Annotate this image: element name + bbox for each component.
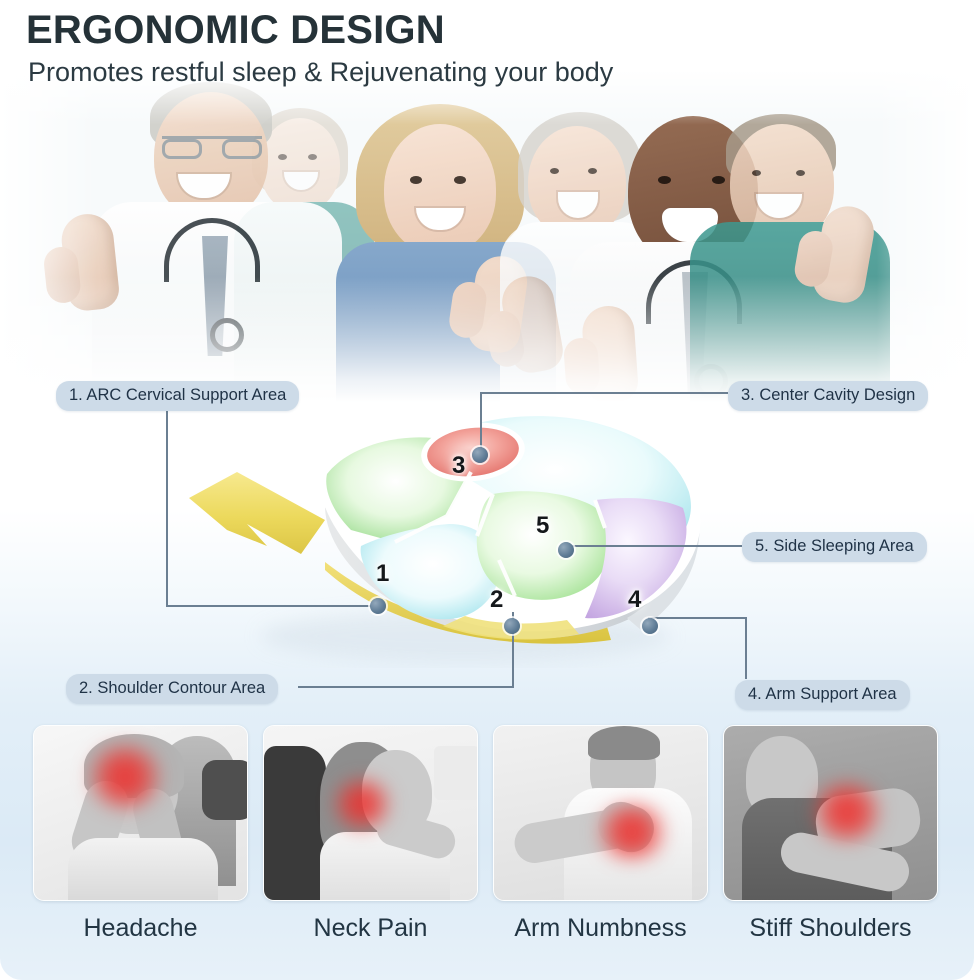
- neck-pain-glow: [330, 778, 394, 830]
- headache-pain-glow: [84, 744, 166, 810]
- marker-5-number: 5: [536, 512, 549, 540]
- callout-5-side-sleeping-area[interactable]: 5. Side Sleeping Area: [742, 532, 927, 562]
- page-subtitle: Promotes restful sleep & Rejuvenating yo…: [0, 51, 974, 88]
- marker-2-number: 2: [490, 586, 503, 614]
- leader-line-4-horizontal: [648, 617, 746, 619]
- pain-card-neck-pain-image: [263, 725, 478, 901]
- marker-3-dot: [472, 447, 488, 463]
- pain-card-arm-numbness[interactable]: Arm Numbness: [493, 725, 708, 943]
- pain-card-headache-image: [33, 725, 248, 901]
- leader-line-3-horizontal: [480, 392, 728, 394]
- pain-card-stiff-shoulders-image: [723, 725, 938, 901]
- pain-card-arm-numbness-label: Arm Numbness: [493, 915, 708, 943]
- stiff-shoulders-pain-glow: [808, 782, 886, 842]
- pain-card-headache[interactable]: Headache: [33, 725, 248, 943]
- marker-1-dot: [370, 598, 386, 614]
- pain-point-cards: Headache Neck Pain: [0, 725, 974, 980]
- marker-4-dot: [642, 618, 658, 634]
- infographic-root: ERGONOMIC DESIGN Promotes restful sleep …: [0, 0, 974, 980]
- leader-line-1-vertical: [166, 406, 168, 606]
- header: ERGONOMIC DESIGN Promotes restful sleep …: [0, 0, 974, 88]
- marker-5-dot: [558, 542, 574, 558]
- pain-card-stiff-shoulders[interactable]: Stiff Shoulders: [723, 725, 938, 943]
- pain-card-stiff-shoulders-label: Stiff Shoulders: [723, 915, 938, 943]
- glasses-icon: [162, 136, 262, 156]
- pillow-base-foam-left: [189, 472, 325, 554]
- marker-3-number: 3: [452, 452, 465, 480]
- leader-line-2-horizontal: [298, 686, 514, 688]
- callout-1-arc-cervical-support-area[interactable]: 1. ARC Cervical Support Area: [56, 381, 299, 411]
- arm-numbness-pain-glow: [592, 804, 672, 860]
- callout-2-shoulder-contour-area[interactable]: 2. Shoulder Contour Area: [66, 674, 278, 704]
- callout-4-arm-support-area[interactable]: 4. Arm Support Area: [735, 680, 910, 710]
- thumbs-up-icon: [59, 212, 121, 313]
- marker-2-dot: [504, 618, 520, 634]
- thumbs-up-icon: [810, 202, 878, 306]
- pain-card-arm-numbness-image: [493, 725, 708, 901]
- leader-line-5-horizontal: [566, 545, 742, 547]
- leader-line-1-horizontal: [166, 605, 378, 607]
- page-title: ERGONOMIC DESIGN: [0, 0, 974, 51]
- thumbs-up-icon: [466, 253, 531, 355]
- pain-card-neck-pain[interactable]: Neck Pain: [263, 725, 478, 943]
- marker-4-number: 4: [628, 586, 641, 614]
- pain-card-headache-label: Headache: [33, 915, 248, 943]
- callout-3-center-cavity-design[interactable]: 3. Center Cavity Design: [728, 381, 928, 411]
- pain-card-neck-pain-label: Neck Pain: [263, 915, 478, 943]
- leader-line-4-vertical: [745, 617, 747, 679]
- marker-1-number: 1: [376, 560, 389, 588]
